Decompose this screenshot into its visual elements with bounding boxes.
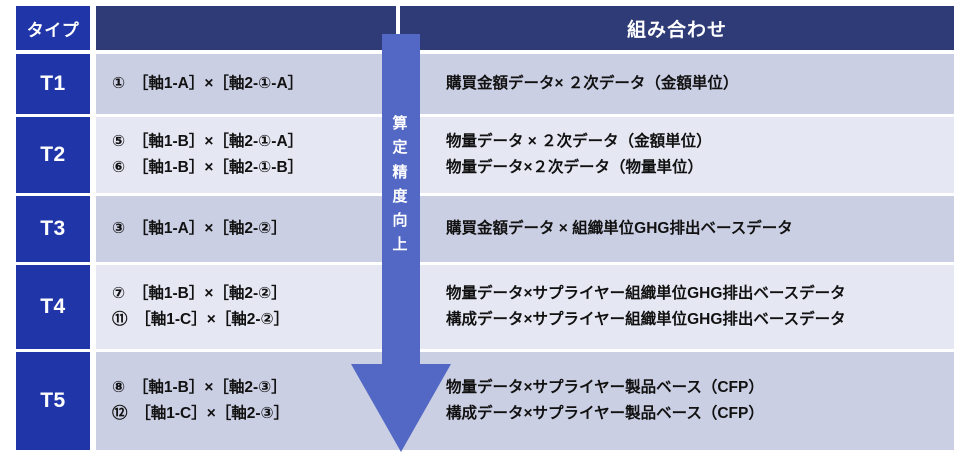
description-list-t4: 物量データ×サプライヤー組織単位GHG排出ベースデータ 構成データ×サプライヤー…	[446, 265, 846, 349]
diagram-root: タイプ 組み合わせ T1 ① ［軸1-A］×［軸2-①-A］ 購買金額データ× …	[0, 0, 970, 460]
accuracy-improvement-label: 算 定 精 度 向 上	[382, 112, 418, 258]
header-combination-column: 組み合わせ	[400, 6, 954, 50]
combination-item: ⑤ ［軸1-B］×［軸2-①-A］	[112, 129, 303, 155]
combination-item: ⑦ ［軸1-B］×［軸2-②］	[112, 281, 289, 307]
combination-list-t5: ⑧ ［軸1-B］×［軸2-③］ ⑫ ［軸1-C］×［軸2-③］	[112, 352, 289, 450]
combination-item: ⑫ ［軸1-C］×［軸2-③］	[112, 401, 289, 427]
header-type-label: タイプ	[27, 16, 80, 41]
type-cell-t1: T1	[16, 54, 90, 114]
combination-item: ③ ［軸1-A］×［軸2-②］	[112, 216, 287, 242]
combination-list-t1: ① ［軸1-A］×［軸2-①-A］	[112, 54, 303, 114]
arrow-char: 精	[382, 161, 418, 185]
combination-item: ⑥ ［軸1-B］×［軸2-①-B］	[112, 155, 303, 181]
type-label-t4: T4	[40, 295, 66, 319]
type-cell-t3: T3	[16, 196, 90, 262]
description-list-t1: 購買金額データ× ２次データ（金額単位）	[446, 54, 738, 114]
type-cell-t2: T2	[16, 117, 90, 193]
header-left-filler	[96, 6, 396, 50]
type-label-t1: T1	[40, 72, 66, 96]
header-type-column: タイプ	[16, 6, 90, 50]
arrow-char: 定	[382, 136, 418, 160]
description-list-t2: 物量データ × ２次データ（金額単位） 物量データ×２次データ（物量単位）	[446, 117, 712, 193]
description-item: 構成データ×サプライヤー組織単位GHG排出ベースデータ	[446, 307, 846, 333]
description-item: 購買金額データ× ２次データ（金額単位）	[446, 71, 738, 97]
description-item: 物量データ×サプライヤー製品ベース（CFP）	[446, 375, 764, 401]
description-item: 物量データ × ２次データ（金額単位）	[446, 129, 712, 155]
combination-item: ① ［軸1-A］×［軸2-①-A］	[112, 71, 303, 97]
arrow-char: 度	[382, 185, 418, 209]
combination-item: ⑧ ［軸1-B］×［軸2-③］	[112, 375, 289, 401]
description-item: 構成データ×サプライヤー製品ベース（CFP）	[446, 401, 764, 427]
description-item: 物量データ×２次データ（物量単位）	[446, 155, 712, 181]
description-list-t3: 購買金額データ × 組織単位GHG排出ベースデータ	[446, 196, 793, 262]
arrow-char: 上	[382, 233, 418, 257]
description-item: 購買金額データ × 組織単位GHG排出ベースデータ	[446, 216, 793, 242]
type-cell-t5: T5	[16, 352, 90, 450]
combination-list-t4: ⑦ ［軸1-B］×［軸2-②］ ⑪ ［軸1-C］×［軸2-②］	[112, 265, 289, 349]
header-combination-label: 組み合わせ	[627, 15, 727, 42]
type-label-t3: T3	[40, 217, 66, 241]
combination-item: ⑪ ［軸1-C］×［軸2-②］	[112, 307, 289, 333]
description-list-t5: 物量データ×サプライヤー製品ベース（CFP） 構成データ×サプライヤー製品ベース…	[446, 352, 764, 450]
combination-list-t2: ⑤ ［軸1-B］×［軸2-①-A］ ⑥ ［軸1-B］×［軸2-①-B］	[112, 117, 303, 193]
type-label-t5: T5	[40, 389, 66, 413]
arrow-char: 向	[382, 209, 418, 233]
description-item: 物量データ×サプライヤー組織単位GHG排出ベースデータ	[446, 281, 846, 307]
type-cell-t4: T4	[16, 265, 90, 349]
arrow-char: 算	[382, 112, 418, 136]
combination-list-t3: ③ ［軸1-A］×［軸2-②］	[112, 196, 287, 262]
type-label-t2: T2	[40, 143, 66, 167]
